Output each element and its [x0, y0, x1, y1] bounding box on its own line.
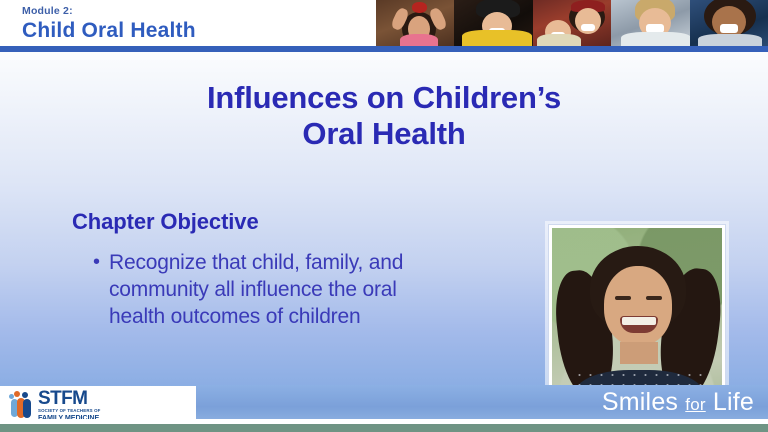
module-kicker: Module 2:	[22, 5, 196, 17]
header-photo-girl-with-apple	[376, 0, 454, 46]
slide-header: Module 2: Child Oral Health	[0, 0, 768, 46]
objective-bullet-item: • Recognize that child, family, and comm…	[93, 249, 423, 330]
brand-life: Life	[713, 388, 754, 416]
stfm-logo-inner: STFM SOCIETY OF TEACHERS OF FAMILY MEDIC…	[8, 389, 101, 422]
shirt-shape	[621, 32, 689, 46]
apple-shape	[412, 2, 427, 13]
eye-left	[615, 296, 631, 300]
emblem-dot-orange	[14, 391, 20, 397]
bullet-marker-icon: •	[93, 249, 109, 330]
slide-title: Influences on Children’s Oral Health	[60, 80, 708, 152]
emblem-body-right	[23, 399, 31, 418]
shirt-shape	[698, 34, 762, 46]
mouth-smile	[620, 316, 658, 333]
shirt-shape-left	[537, 34, 581, 46]
smile-shape	[720, 24, 738, 33]
slide-title-line2: Oral Health	[60, 116, 708, 152]
objective-bullet-text: Recognize that child, family, and commun…	[109, 249, 423, 330]
chapter-objective-heading: Chapter Objective	[72, 209, 259, 235]
smile-shape-right	[581, 24, 595, 31]
teeth	[622, 317, 656, 325]
slide-body: Influences on Children’s Oral Health Cha…	[0, 52, 768, 385]
brand-smiles: Smiles	[602, 388, 678, 416]
footer-green-bar	[0, 424, 768, 432]
stfm-emblem-icon	[8, 390, 34, 420]
eye-right	[646, 296, 662, 300]
slide-root: Module 2: Child Oral Health	[0, 0, 768, 432]
neck-shape	[620, 342, 658, 364]
face-shape	[604, 266, 672, 346]
shirt-shape	[400, 34, 438, 46]
header-photo-smiling-boy	[611, 0, 689, 46]
header-photo-smiling-girl	[690, 0, 768, 46]
emblem-dot-blue	[22, 392, 28, 398]
header-photo-strip	[376, 0, 768, 46]
stfm-wordmark: STFM SOCIETY OF TEACHERS OF FAMILY MEDIC…	[38, 389, 101, 422]
brand-for: for	[685, 395, 705, 414]
raincoat-shape	[462, 30, 532, 46]
slide-title-line1: Influences on Children’s	[60, 80, 708, 116]
header-photo-two-children	[533, 0, 611, 46]
smiles-for-life-wordmark: Smiles for Life	[602, 388, 754, 419]
header-photo-girl-raincoat	[454, 0, 532, 46]
module-label-block: Module 2: Child Oral Health	[22, 5, 196, 43]
stfm-acronym: STFM	[38, 389, 101, 408]
module-title: Child Oral Health	[22, 18, 196, 43]
